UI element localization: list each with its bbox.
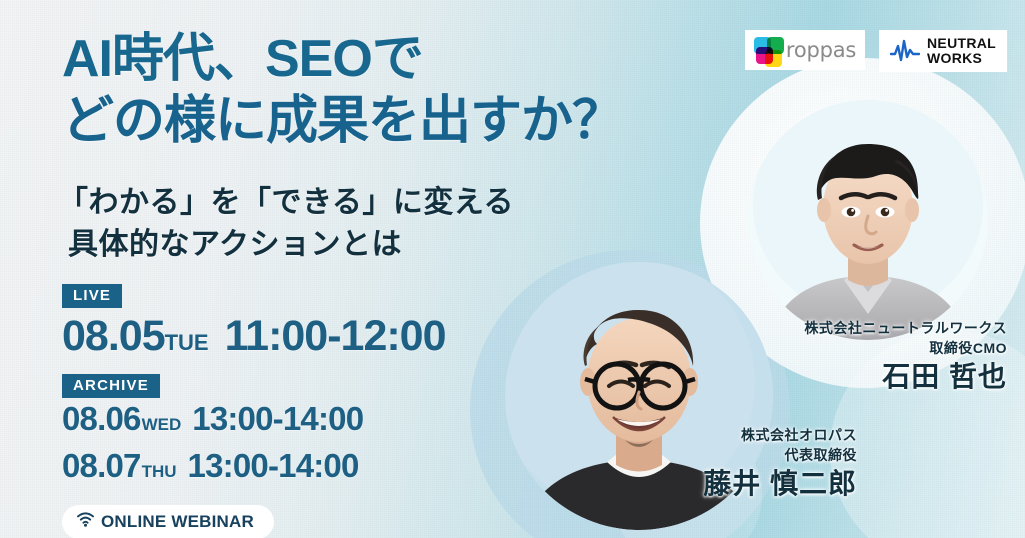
headline-line-2: どの様に成果を出すか？ xyxy=(62,90,623,152)
oroppas-mark-icon xyxy=(754,33,788,67)
subheadline-line-1: 「わかる」を「できる」に変える xyxy=(58,186,514,219)
speaker-name-fujii: 藤井 慎二郎 xyxy=(703,466,857,502)
archive-weekday-2: THU xyxy=(142,462,177,481)
speaker-portrait-illustration-ishida xyxy=(748,100,988,340)
pulse-wave-icon xyxy=(890,38,920,64)
online-webinar-pill: ONLINE WEBINAR xyxy=(62,505,274,538)
live-time: 11:00-12:00 xyxy=(225,312,446,360)
archive-date-1: 08.06 xyxy=(62,400,141,437)
archive-time-1: 13:00-14:00 xyxy=(192,400,363,437)
headline: AI時代、SEOで どの様に成果を出すか？ xyxy=(62,28,623,152)
archive-weekday-1: WED xyxy=(142,415,182,434)
live-session-row: 08.05TUE11:00-12:00 xyxy=(62,311,470,368)
subheadline: 「わかる」を「できる」に変える 具体的なアクションとは xyxy=(58,182,514,266)
online-webinar-label: ONLINE WEBINAR xyxy=(101,512,254,532)
schedule-block: LIVE 08.05TUE11:00-12:00 ARCHIVE 08.06WE… xyxy=(62,284,470,538)
archive-date-2: 08.07 xyxy=(62,447,141,484)
live-badge: LIVE xyxy=(62,284,122,308)
subheadline-line-2: 具体的なアクションとは xyxy=(58,224,514,266)
speaker-name-ishida: 石田 哲也 xyxy=(804,359,1007,395)
neutral-works-wordmark: NEUTRAL WORKS xyxy=(927,36,996,66)
oroppas-wordmark: roppas xyxy=(786,38,856,62)
headline-line-1: AI時代、SEOで xyxy=(62,28,623,90)
speaker-role-ishida: 取締役CMO xyxy=(804,338,1007,358)
speaker-role-fujii: 代表取締役 xyxy=(703,445,857,465)
neutral-works-line2: WORKS xyxy=(927,51,996,66)
live-weekday: TUE xyxy=(165,330,209,355)
partner-logos: roppas NEUTRAL WORKS xyxy=(745,30,1007,72)
speaker-photo-ishida xyxy=(748,100,988,340)
logo-neutral-works: NEUTRAL WORKS xyxy=(879,30,1007,72)
speaker-org-ishida: 株式会社ニュートラルワークス xyxy=(804,318,1007,338)
neutral-works-line1: NEUTRAL xyxy=(927,36,996,51)
logo-oroppas: roppas xyxy=(745,30,865,70)
webinar-banner: roppas NEUTRAL WORKS AI時代、SEOで どの様に成果を出す… xyxy=(0,0,1025,538)
wifi-icon xyxy=(76,511,95,532)
speaker-org-fujii: 株式会社オロパス xyxy=(703,425,857,445)
live-date: 08.05 xyxy=(62,312,165,360)
speaker-caption-fujii: 株式会社オロパス 代表取締役 藤井 慎二郎 xyxy=(703,425,857,502)
speaker-caption-ishida: 株式会社ニュートラルワークス 取締役CMO 石田 哲也 xyxy=(804,318,1007,395)
archive-badge: ARCHIVE xyxy=(62,374,160,398)
archive-time-2: 13:00-14:00 xyxy=(188,447,359,484)
archive-session-row-2: 08.07THU13:00-14:00 xyxy=(62,445,470,492)
archive-session-row-1: 08.06WED13:00-14:00 xyxy=(62,398,470,445)
